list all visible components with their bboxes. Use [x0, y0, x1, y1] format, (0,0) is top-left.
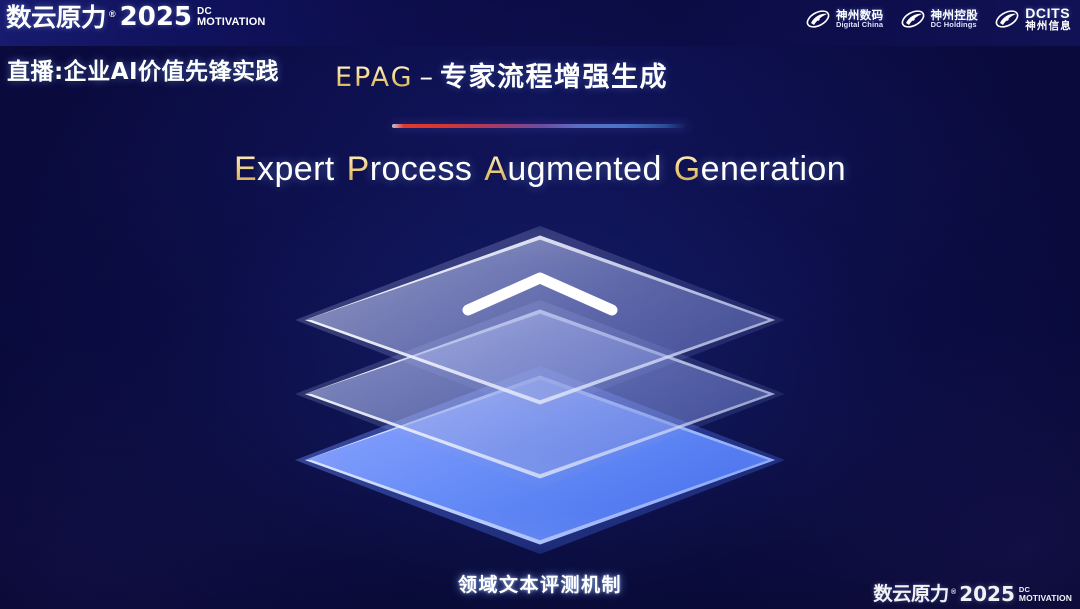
- subtitle-cap-a: A: [484, 150, 507, 188]
- subtitle-cap-g: G: [674, 150, 701, 188]
- brand-name-cn: 数云原力: [6, 5, 106, 30]
- logo-label-en: Digital China: [836, 21, 884, 29]
- brand-dc-motivation: DC MOTIVATION: [197, 7, 265, 28]
- subtitle-rest-expert: xpert: [257, 150, 335, 188]
- logo-digital-china-text: 神州数码 Digital China: [836, 9, 884, 30]
- title-chinese: 专家流程增强生成: [440, 62, 668, 93]
- subtitle-rest-process: rocess: [370, 150, 473, 188]
- footer-brand-dc-motivation: DC MOTIVATION: [1019, 586, 1072, 602]
- logo-dcits: DCITS 神州信息: [994, 6, 1072, 32]
- title-acronym: EPAG: [335, 62, 414, 93]
- logo-dc-holdings: 神州控股 DC Holdings: [900, 7, 979, 31]
- partner-logo-group: 神州数码 Digital China 神州控股 DC Holdings: [805, 6, 1072, 32]
- logo-label-en: DC Holdings: [931, 21, 979, 29]
- slide-stage: 数云原力 ® 2025 DC MOTIVATION 直播:企业AI价值先锋实践 …: [0, 0, 1080, 609]
- brand-year: 2025: [120, 4, 192, 30]
- layer-stack-diagram: 领域文本评测机制 Dynamic MOE 长文本记忆 三类语义建模模块: [300, 232, 780, 562]
- brand-motivation-text: MOTIVATION: [197, 17, 265, 28]
- logo-label-cn: 神州信息: [1025, 21, 1072, 32]
- brand-logo-footer: 数云原力 ® 2025 DC MOTIVATION: [874, 584, 1072, 604]
- layer-top: [300, 232, 780, 408]
- footer-brand-registered-mark: ®: [951, 589, 956, 596]
- logo-label-en: DCITS: [1025, 6, 1072, 21]
- chevron-up-icon: [458, 268, 622, 318]
- live-stream-title: 直播:企业AI价值先锋实践: [7, 52, 279, 86]
- layer-top-plate: [300, 232, 780, 408]
- logo-dc-holdings-text: 神州控股 DC Holdings: [931, 9, 979, 30]
- subtitle-cap-p: P: [347, 150, 370, 188]
- footer-brand-year: 2025: [959, 584, 1015, 604]
- logo-digital-china: 神州数码 Digital China: [805, 7, 884, 31]
- gradient-divider: [392, 124, 688, 128]
- swoosh-icon: [805, 7, 831, 31]
- subtitle: ExpertProcessAugmentedGeneration: [0, 150, 1080, 189]
- swoosh-icon: [994, 7, 1020, 31]
- subtitle-rest-generation: eneration: [701, 150, 846, 188]
- swoosh-icon: [900, 7, 926, 31]
- footer-brand-name-cn: 数云原力: [873, 585, 948, 604]
- page-title: EPAG–专家流程增强生成: [335, 55, 668, 94]
- title-dash: –: [420, 62, 435, 93]
- brand-registered-mark: ®: [109, 9, 116, 19]
- brand-logo-top: 数云原力 ® 2025 DC MOTIVATION: [7, 4, 265, 30]
- logo-dcits-text: DCITS 神州信息: [1025, 6, 1072, 32]
- layer-top-label: 领域文本评测机制: [300, 570, 780, 597]
- subtitle-rest-augmented: ugmented: [507, 150, 661, 188]
- subtitle-cap-e: E: [234, 150, 257, 188]
- footer-brand-motivation-text: MOTIVATION: [1019, 594, 1072, 603]
